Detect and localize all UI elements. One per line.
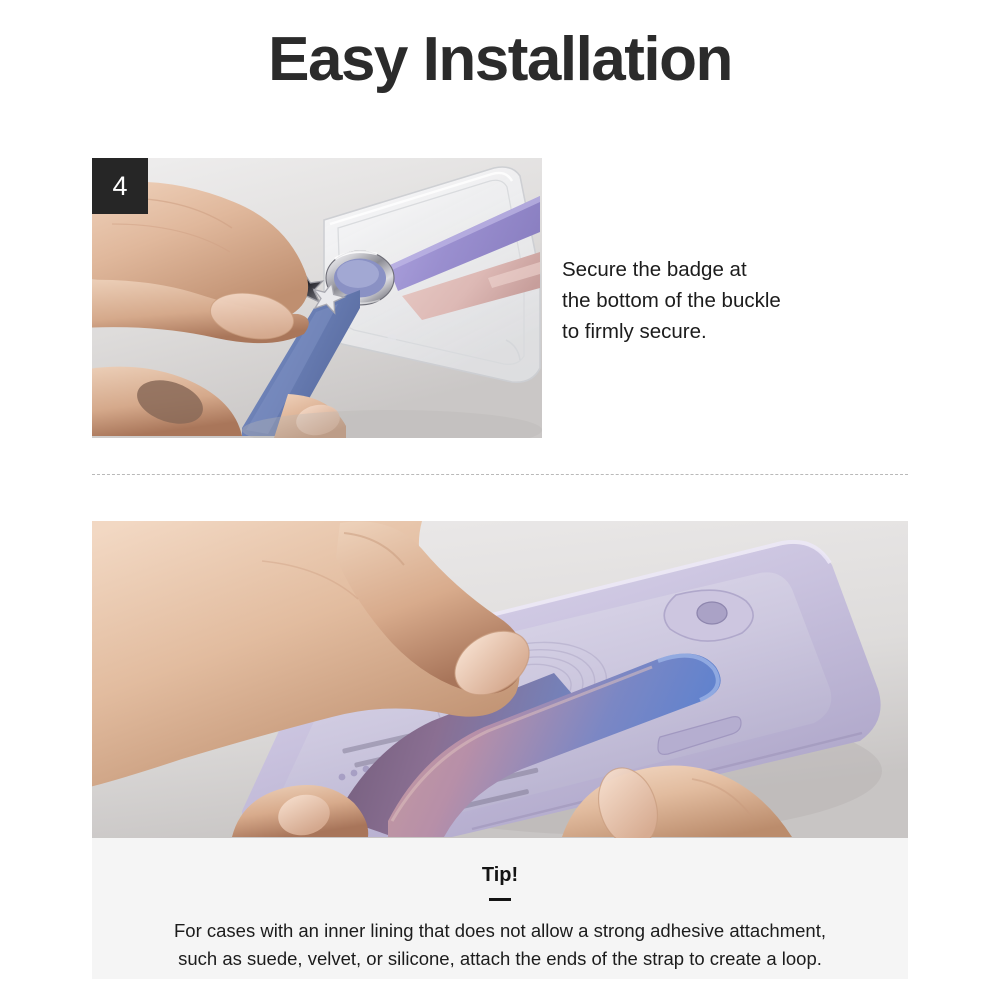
step-caption-line-1: Secure the badge at [562,254,892,285]
step-number-badge: 4 [92,158,148,214]
page-title: Easy Installation [0,24,1000,95]
tip-body: For cases with an inner lining that does… [92,917,908,973]
tip-photo-illustration [92,521,908,838]
step-photo-illustration [92,158,542,438]
tip-body-line-1: For cases with an inner lining that does… [92,917,908,945]
step-caption: Secure the badge at the bottom of the bu… [562,254,892,347]
step-caption-line-2: the bottom of the buckle [562,285,892,316]
tip-section: Tip! For cases with an inner lining that… [92,521,908,979]
installation-step-4: 4 Secure the badge at the bottom of the … [92,158,908,438]
tip-body-line-2: such as suede, velvet, or silicone, atta… [92,945,908,973]
step-photo: 4 [92,158,542,438]
tip-photo [92,521,908,838]
tip-divider-dash [489,898,511,901]
step-caption-line-3: to firmly secure. [562,316,892,347]
tip-heading: Tip! [92,864,908,887]
tip-panel: Tip! For cases with an inner lining that… [92,838,908,979]
section-divider [92,474,908,475]
